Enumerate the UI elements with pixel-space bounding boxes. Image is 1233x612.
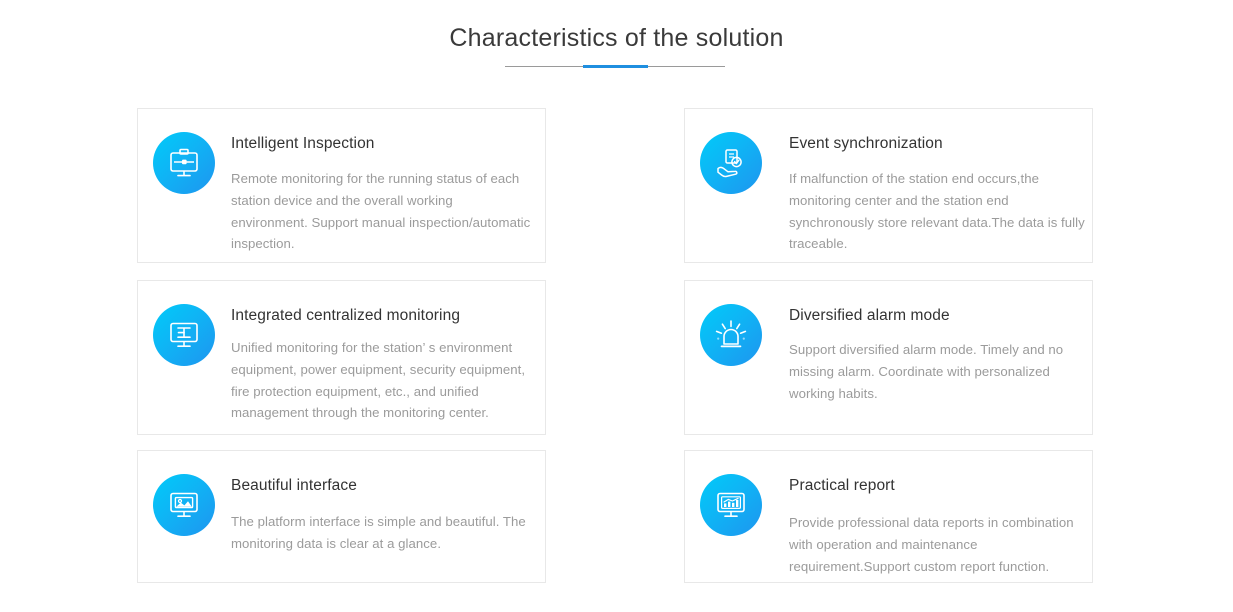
card-title: Integrated centralized monitoring [231,306,539,325]
feature-card-beautiful-interface[interactable]: Beautiful interface The platform interfa… [137,450,546,583]
monitor-image-icon [153,474,215,536]
feature-card-practical-report[interactable]: Practical report Provide professional da… [684,450,1093,583]
card-description: If malfunction of the station end occurs… [789,168,1091,255]
card-description: Provide professional data reports in com… [789,512,1095,577]
card-title: Intelligent Inspection [231,134,531,153]
card-description: The platform interface is simple and bea… [231,511,541,555]
card-body: Beautiful interface The platform interfa… [231,474,541,555]
feature-card-grid: Intelligent Inspection Remote monitoring… [0,0,1233,612]
alarm-siren-icon [700,304,762,366]
monitor-chart-report-icon [700,474,762,536]
feature-card-diversified-alarm-mode[interactable]: Diversified alarm mode Support diversifi… [684,280,1093,435]
card-body: Event synchronization If malfunction of … [789,132,1091,255]
hand-document-sync-icon [700,132,762,194]
feature-card-integrated-centralized-monitoring[interactable]: Integrated centralized monitoring Unifie… [137,280,546,435]
feature-card-event-synchronization[interactable]: Event synchronization If malfunction of … [684,108,1093,263]
feature-card-intelligent-inspection[interactable]: Intelligent Inspection Remote monitoring… [137,108,546,263]
card-description: Remote monitoring for the running status… [231,168,531,255]
card-description: Unified monitoring for the station’ s en… [231,337,539,424]
monitor-inspection-icon [153,132,215,194]
card-body: Intelligent Inspection Remote monitoring… [231,132,531,255]
card-body: Diversified alarm mode Support diversifi… [789,304,1091,404]
card-title: Diversified alarm mode [789,306,1091,325]
card-title: Beautiful interface [231,476,541,495]
card-body: Practical report Provide professional da… [789,474,1095,577]
card-body: Integrated centralized monitoring Unifie… [231,304,539,424]
card-title: Practical report [789,476,1095,495]
card-title: Event synchronization [789,134,1091,153]
card-description: Support diversified alarm mode. Timely a… [789,339,1091,404]
monitor-centralized-icon [153,304,215,366]
